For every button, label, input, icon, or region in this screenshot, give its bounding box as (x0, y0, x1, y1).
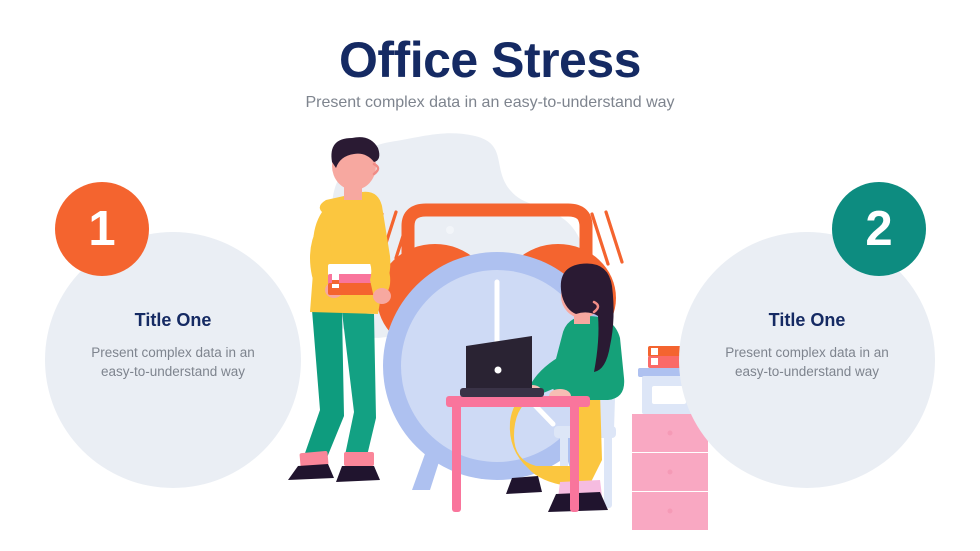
man-shoe-front (336, 466, 380, 482)
laptop-base (460, 388, 544, 397)
panel-two-text: Title One Present complex data in an eas… (695, 310, 919, 381)
panel-one-text: Title One Present complex data in an eas… (61, 310, 285, 381)
desk-top (446, 396, 590, 407)
woman-eye (572, 292, 576, 296)
desk-leg-right (570, 404, 579, 512)
laptop-logo (495, 367, 502, 374)
cabinet-handle-2 (668, 470, 673, 475)
desk-leg-left (452, 404, 461, 512)
book-spine-2 (651, 358, 658, 365)
man-sock-front (344, 452, 374, 466)
slide-header: Office Stress Present complex data in an… (0, 34, 980, 112)
page-subtitle: Present complex data in an easy-to-under… (0, 93, 980, 112)
cabinet-handle-1 (668, 431, 673, 436)
chair-leg-back (604, 434, 612, 508)
man-hand-2 (373, 288, 391, 304)
panel-one-body: Present complex data in an easy-to-under… (61, 343, 285, 381)
page-title: Office Stress (0, 34, 980, 87)
cabinet-handle-3 (668, 509, 673, 514)
step-badge-two[interactable]: 2 (832, 182, 926, 276)
panel-one-title: Title One (61, 310, 285, 331)
office-stress-illustration (270, 130, 730, 551)
slide-canvas: Office Stress Present complex data in an… (0, 0, 980, 551)
laptop (460, 336, 544, 397)
panel-two-title: Title One (695, 310, 919, 331)
book-spine-1 (651, 348, 658, 355)
panel-two-body: Present complex data in an easy-to-under… (695, 343, 919, 381)
man-front-leg (342, 312, 376, 460)
man-back-leg (304, 310, 344, 460)
step-badge-one[interactable]: 1 (55, 182, 149, 276)
